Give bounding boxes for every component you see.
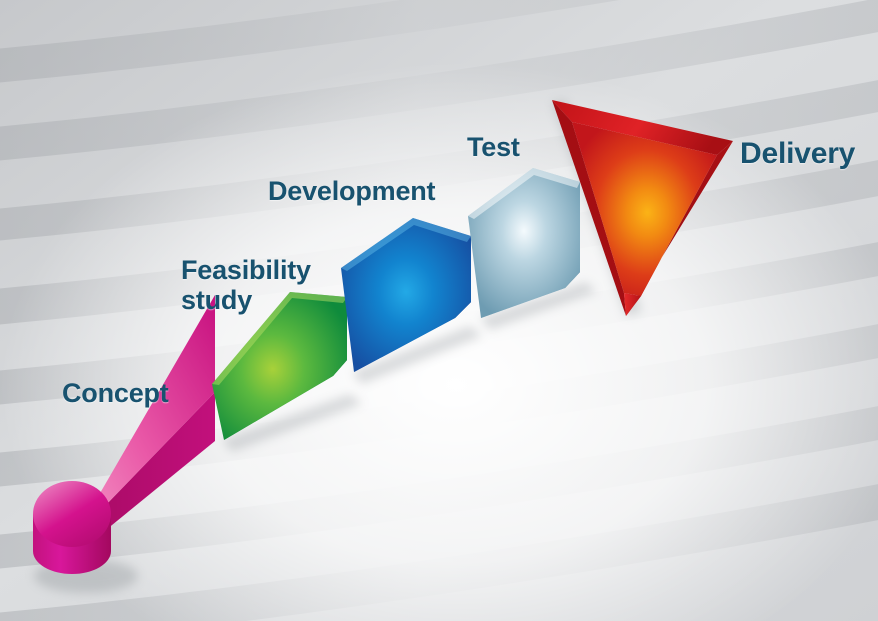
label-delivery: Delivery bbox=[740, 137, 855, 171]
label-test: Test bbox=[467, 132, 520, 162]
stage-development[interactable] bbox=[341, 218, 471, 372]
label-feasibility-study: Feasibilitystudy bbox=[181, 255, 311, 315]
stage-concept[interactable] bbox=[33, 295, 215, 574]
label-feasibility-line2: study bbox=[181, 285, 252, 315]
label-development: Development bbox=[268, 176, 435, 206]
blue-block-top-face bbox=[341, 218, 471, 372]
diagram-canvas: Concept Feasibilitystudy Development Tes… bbox=[0, 0, 878, 621]
label-concept: Concept bbox=[62, 378, 169, 408]
label-feasibility-line1: Feasibility bbox=[181, 255, 311, 285]
concept-cylinder-top bbox=[33, 481, 111, 547]
stages-layer bbox=[0, 0, 878, 621]
